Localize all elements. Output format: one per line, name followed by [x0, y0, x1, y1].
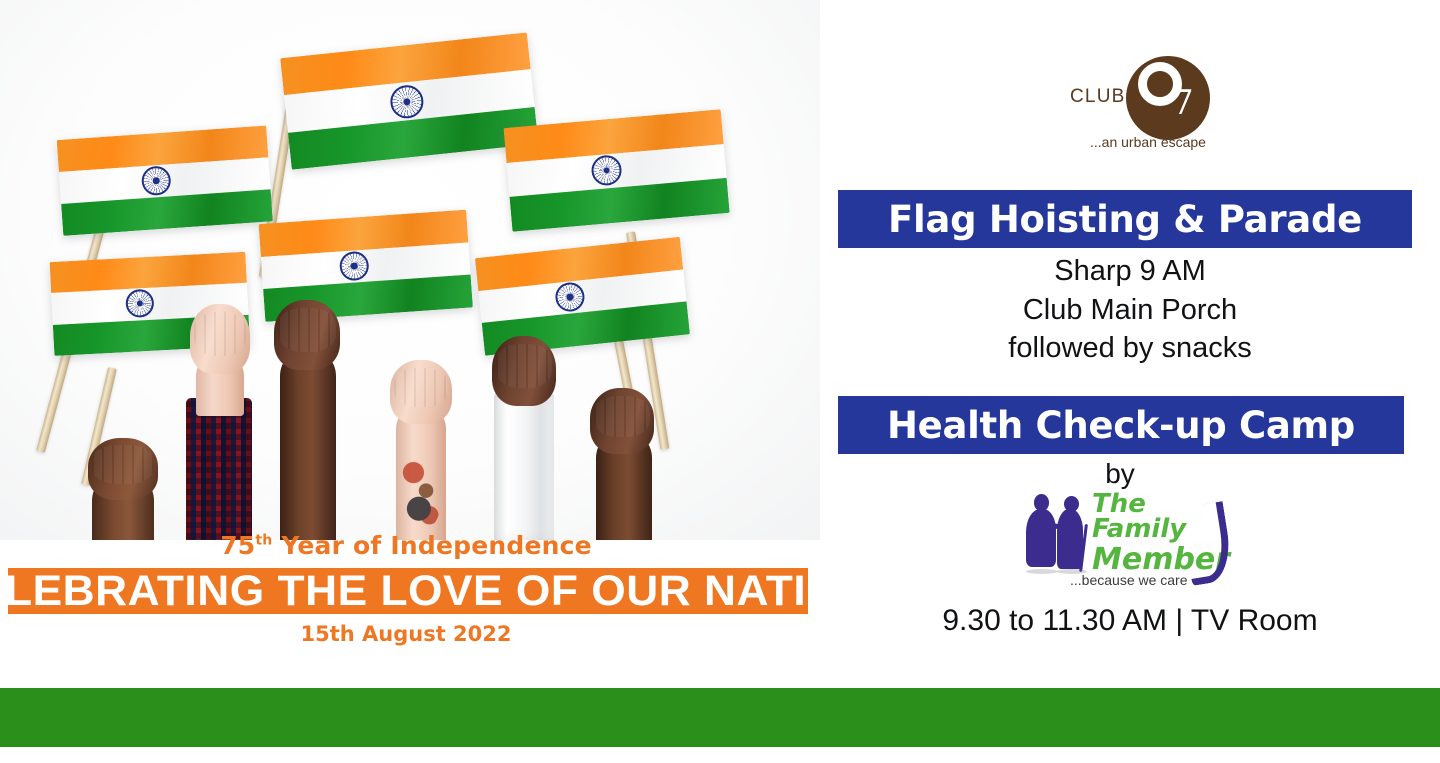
- club-word-label: CLUB: [1070, 86, 1125, 108]
- hand-holding-flag: [274, 300, 340, 370]
- health-camp-banner: Health Check-up Camp: [838, 396, 1404, 454]
- right-info-panel: CLUB 7 ...an urban escape Flag Hoisting …: [820, 0, 1440, 690]
- club-o7-logo: CLUB 7 ...an urban escape: [1030, 52, 1230, 157]
- detail-line-note: followed by snacks: [820, 329, 1440, 368]
- event-date: 15th August 2022: [0, 622, 812, 646]
- forearm-tattoo: [400, 448, 442, 530]
- bottom-green-band: [0, 688, 1440, 747]
- headline-banner: CELEBRATING THE LOVE OF OUR NATION: [8, 568, 808, 614]
- indian-flag: [57, 125, 273, 235]
- indian-flag: [503, 109, 729, 232]
- figure-shadow: [1026, 569, 1058, 574]
- poster-root: 75th Year of Independence CELEBRATING TH…: [0, 0, 1440, 763]
- health-camp-timing: 9.30 to 11.30 AM | TV Room: [820, 604, 1440, 638]
- family-member-tagline: ...because we care: [1070, 572, 1220, 588]
- indian-flag: [475, 237, 690, 356]
- hand-holding-flag: [590, 388, 654, 454]
- by-label: by: [820, 458, 1420, 490]
- the-family-member-logo: The Family Member ...because we care: [1018, 492, 1228, 590]
- club-tagline: ...an urban escape: [1068, 134, 1228, 150]
- year-text: Year of Independence: [272, 531, 591, 560]
- figure-woman-body-icon: [1026, 509, 1056, 567]
- flag-hoisting-details: Sharp 9 AM Club Main Porch followed by s…: [820, 252, 1440, 368]
- club-circle-mark-icon: 7: [1126, 56, 1210, 140]
- year-number: 75: [220, 531, 255, 560]
- detail-line-time: Sharp 9 AM: [820, 252, 1440, 291]
- year-ordinal-suffix: th: [255, 533, 272, 549]
- flag-hoisting-banner: Flag Hoisting & Parade: [838, 190, 1412, 248]
- indian-flag: [280, 32, 538, 169]
- hand-holding-flag: [190, 304, 250, 374]
- year-of-independence-label: 75th Year of Independence: [0, 531, 812, 560]
- numeral-seven-label: 7: [1172, 86, 1194, 120]
- flag-hoisting-title: Flag Hoisting & Parade: [888, 201, 1362, 238]
- hand-holding-flag: [492, 336, 556, 406]
- plaid-sleeve: [186, 398, 252, 540]
- figure-man-body-icon: [1057, 509, 1083, 569]
- raised-arm: [280, 348, 336, 540]
- hand-holding-flag: [88, 438, 158, 500]
- health-camp-title: Health Check-up Camp: [887, 407, 1355, 444]
- raised-arm: [396, 404, 446, 540]
- flag-photo-panel: [0, 0, 820, 540]
- detail-line-venue: Club Main Porch: [820, 291, 1440, 330]
- headline-text: CELEBRATING THE LOVE OF OUR NATION: [0, 570, 874, 613]
- white-sleeve: [494, 392, 554, 540]
- elderly-couple-icon: [1024, 494, 1092, 574]
- hand-holding-flag: [390, 360, 452, 424]
